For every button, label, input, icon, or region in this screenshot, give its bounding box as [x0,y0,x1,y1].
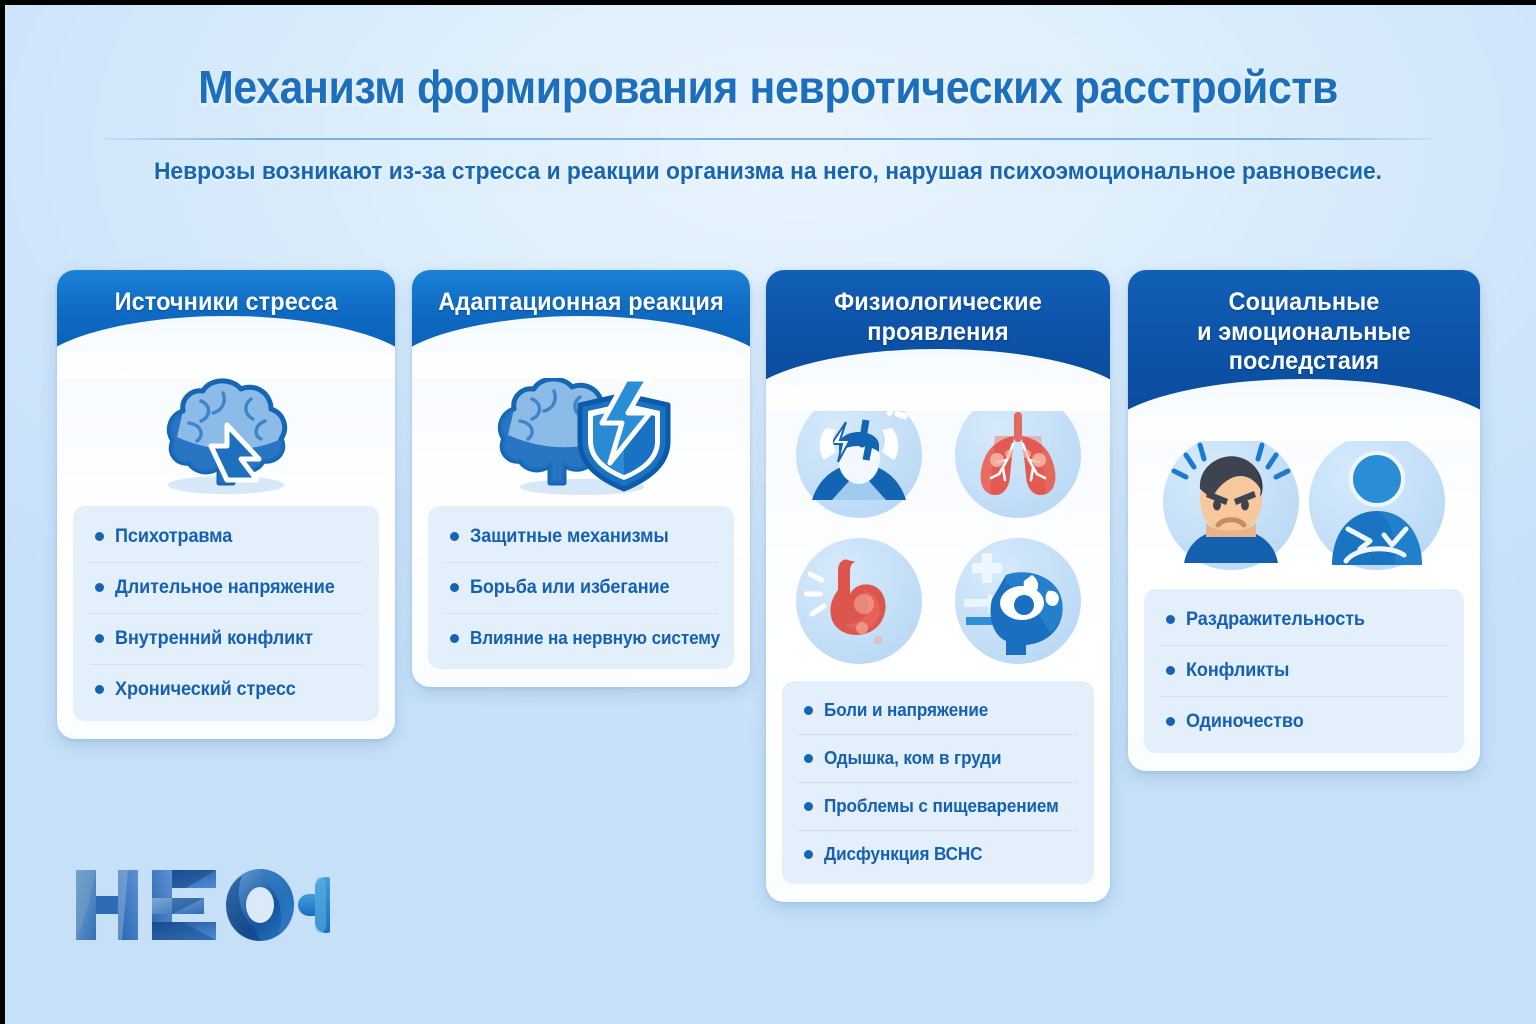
list-item-label: Раздражительность [1186,609,1365,631]
bullet-dot [1166,615,1175,624]
card-icon-grid [766,381,1110,681]
list-item[interactable]: Хронический стресс [89,665,363,715]
card-header: Физиологические проявления [766,270,1110,381]
bullet-dot [804,706,813,715]
list-item[interactable]: Конфликты [1160,646,1448,697]
list-item[interactable]: Проблемы с пищеварением [798,783,1078,831]
bullet-dot [450,634,459,643]
list-item[interactable]: Психотравма [89,512,363,563]
head-nerve-icon [955,538,1081,664]
card-title-line-1: Физиологические [789,288,1086,318]
card-title-line-2: проявления [789,318,1086,348]
infographic-canvas: Механизм формирования невротических расс… [0,0,1536,1024]
card-social-emotional-consequences[interactable]: Социальные и эмоциональные последстаия [1128,270,1480,771]
card-bullet-list: Боли и напряжение Одышка, ком в груди Пр… [782,681,1094,884]
list-item-label: Внутренний конфликт [115,628,313,650]
card-sources-of-stress[interactable]: Источники стресса [57,270,395,739]
list-item[interactable]: Влияние на нервную систему [444,614,718,663]
page-title: Механизм формирования невротических расс… [54,60,1482,114]
list-item[interactable]: Боли и напряжение [798,687,1078,735]
bullet-dot [804,850,813,859]
list-item-label: Боли и напряжение [824,700,988,721]
list-item[interactable]: Защитные механизмы [444,512,718,563]
page-subtitle: Неврозы возникают из-за стресса и реакци… [38,158,1497,186]
card-title-line-2: и эмоциональные [1152,318,1457,348]
list-item-label: Длительное напряжение [115,577,335,599]
card-header: Источники стресса [57,270,395,348]
list-item[interactable]: Дисфункция ВСНС [798,831,1078,878]
list-item[interactable]: Раздражительность [1160,595,1448,646]
brand-logo[interactable] [70,862,330,948]
list-item-label: Дисфункция ВСНС [824,844,982,865]
card-title: Адаптационная реакция [435,288,726,318]
card-header: Социальные и эмоциональные последстаия [1128,270,1480,411]
card-title-line-3: последстаия [1152,347,1457,377]
list-item-label: Конфликты [1186,660,1289,682]
bullet-dot [450,532,459,541]
title-divider [103,138,1433,140]
bullet-dot [804,754,813,763]
card-title-line-1: Социальные [1152,288,1457,318]
neo-plus-logo-icon [70,862,330,948]
list-item[interactable]: Борьба или избегание [444,563,718,614]
card-physiological-manifestations[interactable]: Физиологические проявления [766,270,1110,902]
bullet-dot [95,583,104,592]
list-item-label: Одиночество [1186,711,1304,733]
bullet-dot [804,802,813,811]
bullet-dot [95,634,104,643]
list-item-label: Проблемы с пищеварением [824,796,1059,817]
angry-person-icon [1163,434,1299,570]
list-item-label: Борьба или избегание [470,577,670,599]
card-bullet-list: Защитные механизмы Борьба или избегание … [428,506,734,669]
bullet-dot [1166,666,1175,675]
bullet-dot [95,685,104,694]
list-item-label: Защитные механизмы [470,526,669,548]
list-item-label: Влияние на нервную систему [470,628,720,649]
list-item[interactable]: Внутренний конфликт [89,614,363,665]
bullet-dot [95,532,104,541]
lonely-person-icon [1309,434,1445,570]
list-item-label: Психотравма [115,526,232,548]
list-item[interactable]: Длительное напряжение [89,563,363,614]
list-item-label: Одышка, ком в груди [824,748,1001,769]
bullet-dot [1166,717,1175,726]
list-item[interactable]: Одышка, ком в груди [798,735,1078,783]
list-item[interactable]: Одиночество [1160,697,1448,747]
card-header: Адаптационная реакция [412,270,750,348]
card-adaptive-reaction[interactable]: Адаптационная реакция [412,270,750,687]
card-bullet-list: Психотравма Длительное напряжение Внутре… [73,506,379,721]
bullet-dot [450,583,459,592]
list-item-label: Хронический стресс [115,679,296,701]
card-bullet-list: Раздражительность Конфликты Одиночество [1144,589,1464,753]
stomach-icon [796,538,922,664]
card-title: Источники стресса [80,288,371,318]
